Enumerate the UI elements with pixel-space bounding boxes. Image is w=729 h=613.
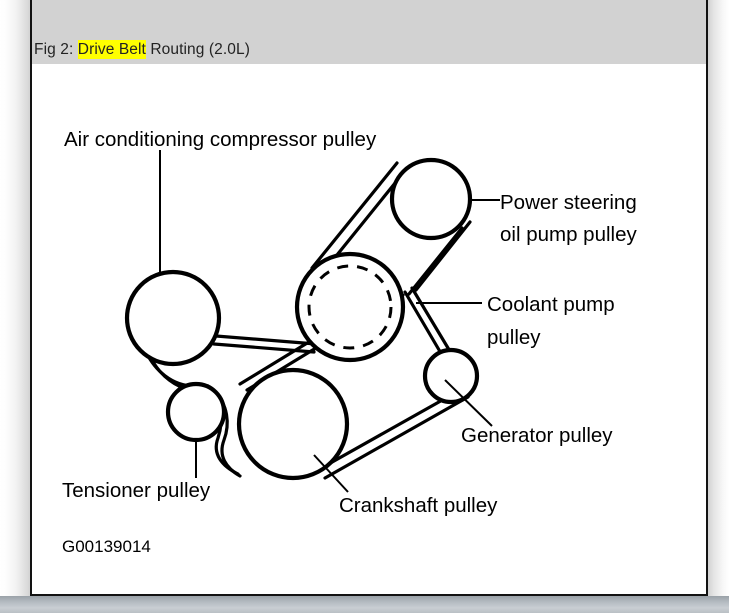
belt-segment-compressor-to-coolant-inner	[216, 336, 316, 344]
label-coolant-pump-line2: pulley	[487, 326, 541, 349]
label-crankshaft-pulley: Crankshaft pulley	[339, 494, 498, 517]
tensioner-pulley	[168, 384, 224, 440]
drive-belt-routing-diagram: Air conditioning compressor pulley Power…	[0, 0, 729, 613]
coolant-pump-pulley	[297, 254, 403, 360]
label-generator-pulley: Generator pulley	[461, 424, 613, 447]
power-steering-oil-pump-pulley	[392, 160, 470, 238]
label-coolant-pump-line1: Coolant pump	[487, 293, 615, 316]
label-tensioner-pulley: Tensioner pulley	[62, 479, 211, 502]
label-ac-compressor-pulley: Air conditioning compressor pulley	[64, 128, 377, 151]
label-power-steering-line1: Power steering	[500, 191, 637, 214]
crankshaft-pulley	[239, 370, 347, 478]
generator-pulley	[425, 350, 477, 402]
air-conditioning-compressor-pulley	[127, 272, 219, 364]
label-power-steering-line2: oil pump pulley	[500, 223, 637, 246]
figure-code: G00139014	[62, 537, 151, 556]
pulley-group	[127, 160, 477, 478]
screenshot-viewport: Fig 2: Drive Belt Routing (2.0L)	[0, 0, 729, 613]
